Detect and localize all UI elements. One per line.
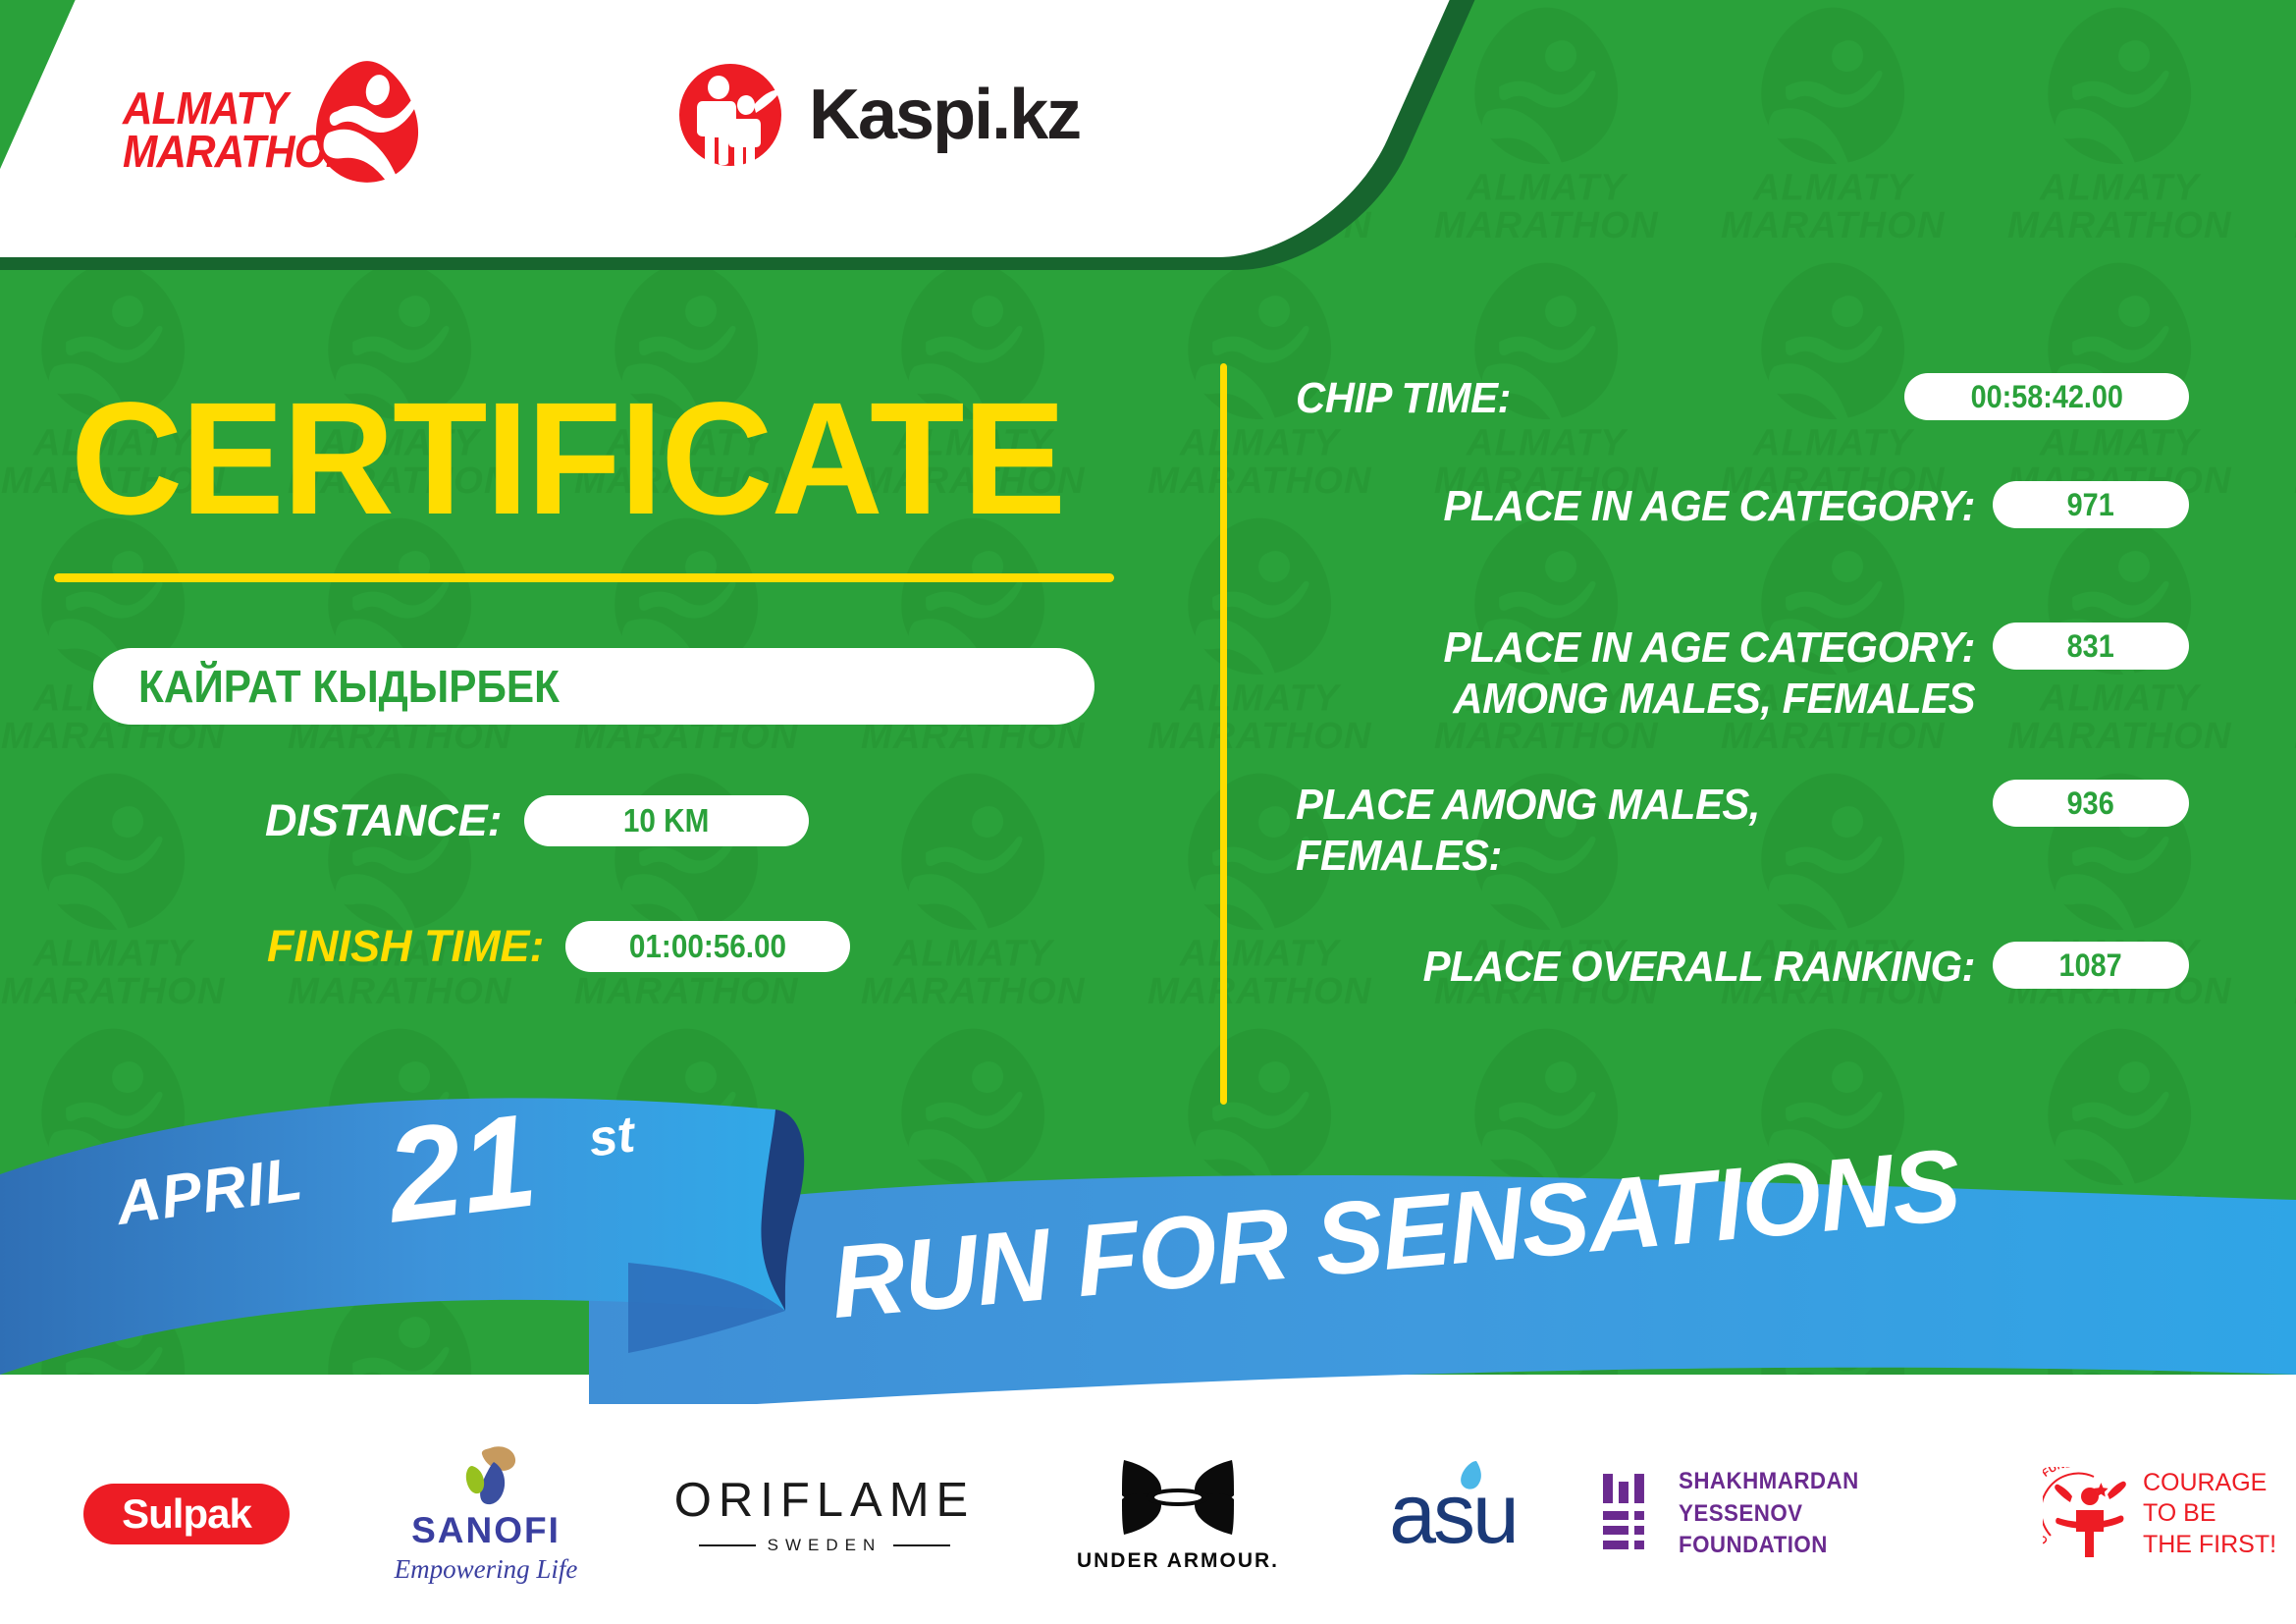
sponsor-sanofi: SANOFI Empowering Life — [373, 1404, 599, 1624]
place-age-category-pill: 971 — [1993, 481, 2189, 528]
asu-logo: asu — [1389, 1466, 1517, 1563]
certificate-page: ALMATY MARATHON ALMATY MARATHON — [0, 0, 2296, 1624]
finish-time-pill: 01:00:56.00 — [565, 921, 850, 972]
place-age-category-among-label: PLACE IN AGE CATEGORY: AMONG MALES, FEMA… — [1330, 623, 1975, 725]
distance-row: DISTANCE: 10 KM — [265, 795, 809, 846]
column-divider — [1220, 363, 1227, 1105]
ribbon-day: 21 — [380, 1093, 543, 1242]
under-armour-mark-icon — [1118, 1456, 1238, 1539]
courage-logo: CORPORATE FUND COURAGE TO BE THE FIRST! — [2043, 1467, 2276, 1561]
sponsor-yessenov-foundation: SHAKHMARDAN YESSENOV FOUNDATION — [1600, 1404, 2012, 1624]
sulpak-label: Sulpak — [122, 1490, 251, 1538]
stat-row-place-overall-ranking: PLACE OVERALL RANKING: 1087 — [1296, 942, 2189, 1040]
stat-row-place-among-males-females: PLACE AMONG MALES, FEMALES: 936 — [1296, 780, 2189, 942]
sanofi-label: SANOFI — [395, 1510, 578, 1551]
place-overall-ranking-label: PLACE OVERALL RANKING: — [1330, 942, 1975, 993]
place-among-males-females-value: 936 — [2067, 785, 2114, 822]
place-among-males-females-pill: 936 — [1993, 780, 2189, 827]
oriflame-label: ORIFLAME — [674, 1473, 975, 1528]
sanofi-logo: SANOFI Empowering Life — [395, 1444, 578, 1585]
page-title: CERTIFICATE — [71, 378, 1064, 538]
kaspi-logo: Kaspi.kz — [677, 61, 1080, 169]
place-age-category-among-pill: 831 — [1993, 623, 2189, 670]
finish-time-value: 01:00:56.00 — [629, 928, 786, 965]
distance-label: DISTANCE: — [265, 795, 503, 846]
place-age-category-value: 971 — [2067, 487, 2114, 523]
oriflame-sub-row: SWEDEN — [674, 1536, 975, 1555]
place-age-category-label: PLACE IN AGE CATEGORY: — [1330, 481, 1975, 532]
yessenov-mark-icon — [1600, 1472, 1657, 1556]
sponsor-under-armour: UNDER ARMOUR. — [1055, 1404, 1301, 1624]
stat-row-place-age-category: PLACE IN AGE CATEGORY: 971 — [1296, 481, 2189, 623]
asu-droplet-icon — [1459, 1460, 1484, 1493]
participant-name: КАЙРАТ КЫДЫРБЕК — [138, 660, 560, 713]
finish-time-row: FINISH TIME: 01:00:56.00 — [267, 921, 850, 972]
ribbon-day-suffix: st — [586, 1105, 638, 1168]
kaspi-wordmark: Kaspi.kz — [809, 75, 1080, 155]
almaty-marathon-logo: ALMATY MARATHON — [123, 59, 407, 187]
distance-pill: 10 KM — [524, 795, 809, 846]
chip-time-label: CHIP TIME: — [1296, 373, 1857, 424]
place-age-category-among-value: 831 — [2067, 628, 2114, 665]
place-overall-ranking-pill: 1087 — [1993, 942, 2189, 989]
chip-time-pill: 00:58:42.00 — [1904, 373, 2189, 420]
finish-time-label: FINISH TIME: — [267, 921, 544, 972]
courage-label: COURAGE TO BE THE FIRST! — [2143, 1468, 2276, 1560]
asu-label: asu — [1389, 1466, 1517, 1563]
participant-name-pill: КАЙРАТ КЫДЫРБЕК — [93, 648, 1095, 725]
sponsor-sulpak: Sulpak — [79, 1404, 294, 1624]
yessenov-logo: SHAKHMARDAN YESSENOV FOUNDATION — [1600, 1466, 2012, 1561]
sponsor-oriflame: ORIFLAME SWEDEN — [667, 1404, 982, 1624]
sponsor-strip: Sulpak SANOFI Empowering Life ORIFLAME S… — [0, 1404, 2296, 1624]
yessenov-label: SHAKHMARDAN YESSENOV FOUNDATION — [1679, 1466, 1989, 1561]
stats-panel: CHIP TIME: 00:58:42.00 PLACE IN AGE CATE… — [1296, 373, 2189, 1040]
stat-row-place-age-category-among: PLACE IN AGE CATEGORY: AMONG MALES, FEMA… — [1296, 623, 2189, 780]
runner-drop-icon — [314, 59, 420, 185]
title-underline — [54, 573, 1114, 582]
sulpak-logo: Sulpak — [83, 1484, 290, 1544]
oriflame-rule-right — [893, 1544, 950, 1546]
sponsor-courage-fund: CORPORATE FUND COURAGE TO BE THE FIRST! — [2032, 1404, 2287, 1624]
sanofi-mark-icon — [451, 1444, 521, 1505]
oriflame-sub-label: SWEDEN — [768, 1536, 882, 1555]
sanofi-tagline: Empowering Life — [395, 1554, 578, 1585]
under-armour-logo: UNDER ARMOUR. — [1077, 1456, 1279, 1573]
courage-runner-icon: CORPORATE FUND — [2043, 1467, 2133, 1561]
oriflame-rule-left — [699, 1544, 756, 1546]
stat-row-chip-time: CHIP TIME: 00:58:42.00 — [1296, 373, 2189, 481]
kaspi-people-icon — [677, 62, 783, 168]
chip-time-value: 00:58:42.00 — [1970, 379, 2122, 415]
place-among-males-females-label: PLACE AMONG MALES, FEMALES: — [1296, 780, 1941, 882]
under-armour-label: UNDER ARMOUR. — [1077, 1549, 1279, 1573]
place-overall-ranking-value: 1087 — [2059, 947, 2122, 984]
oriflame-logo: ORIFLAME SWEDEN — [674, 1473, 975, 1555]
sponsor-asu: asu — [1345, 1404, 1561, 1624]
distance-value: 10 KM — [623, 802, 709, 839]
